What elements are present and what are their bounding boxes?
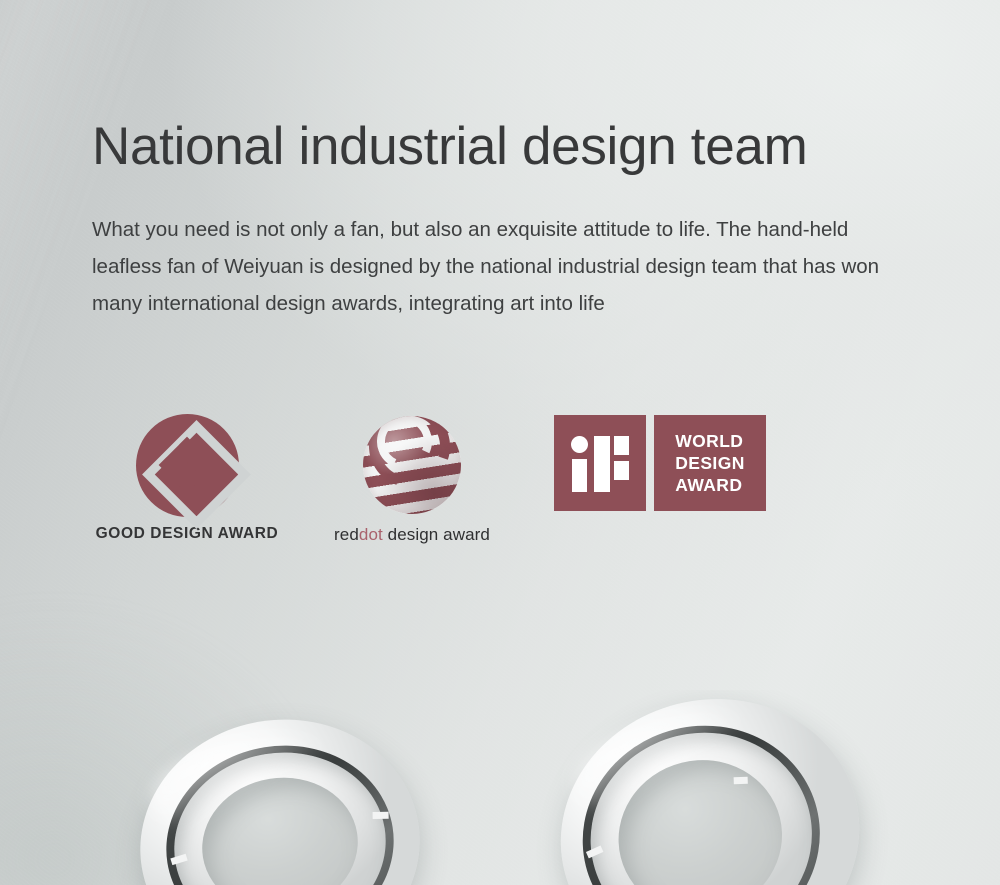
award-if-world-design: WORLD DESIGN AWARD — [554, 415, 774, 511]
product-photo-area — [0, 690, 1000, 885]
if-text-box: WORLD DESIGN AWARD — [654, 415, 766, 511]
hero-description: What you need is not only a fan, but als… — [92, 211, 892, 322]
if-line-3: AWARD — [675, 474, 745, 496]
hero-text-block: National industrial design team What you… — [92, 118, 932, 322]
reddot-word-dot: dot — [359, 525, 383, 544]
award-caption-reddot: reddot design award — [314, 525, 510, 545]
if-letter-f-arm-mid — [614, 461, 629, 480]
if-letter-f-stem — [594, 436, 610, 492]
awards-row: GOOD DESIGN AWARD reddot design award — [92, 415, 852, 565]
award-logo-wrapper — [314, 415, 510, 515]
award-caption-good-design: GOOD DESIGN AWARD — [92, 525, 282, 543]
reddot-word-rest: design award — [383, 525, 490, 544]
fan-rim-gap-right — [373, 812, 389, 819]
award-reddot: reddot design award — [314, 415, 510, 545]
if-letter-f-arm-top — [614, 436, 629, 455]
bladeless-handheld-fan-left — [122, 700, 438, 885]
reddot-edge — [363, 416, 461, 514]
if-mark-icon — [571, 434, 629, 492]
g-mark-icon — [136, 414, 239, 517]
fan-rim-gap-right — [734, 777, 748, 784]
if-mark-box — [554, 415, 646, 511]
award-logo-wrapper — [92, 415, 282, 515]
if-letter-i-dot — [571, 436, 588, 453]
if-logo: WORLD DESIGN AWARD — [554, 415, 774, 511]
reddot-sphere-icon — [363, 416, 461, 514]
if-line-1: WORLD — [675, 430, 745, 452]
product-feature-page: National industrial design team What you… — [0, 0, 1000, 885]
bladeless-handheld-fan-right — [532, 690, 888, 885]
if-letter-i-stem — [572, 459, 587, 492]
page-title: National industrial design team — [92, 118, 932, 175]
award-good-design: GOOD DESIGN AWARD — [92, 415, 282, 543]
if-line-2: DESIGN — [675, 452, 745, 474]
if-award-lines: WORLD DESIGN AWARD — [675, 430, 745, 496]
reddot-word-red: red — [334, 525, 359, 544]
